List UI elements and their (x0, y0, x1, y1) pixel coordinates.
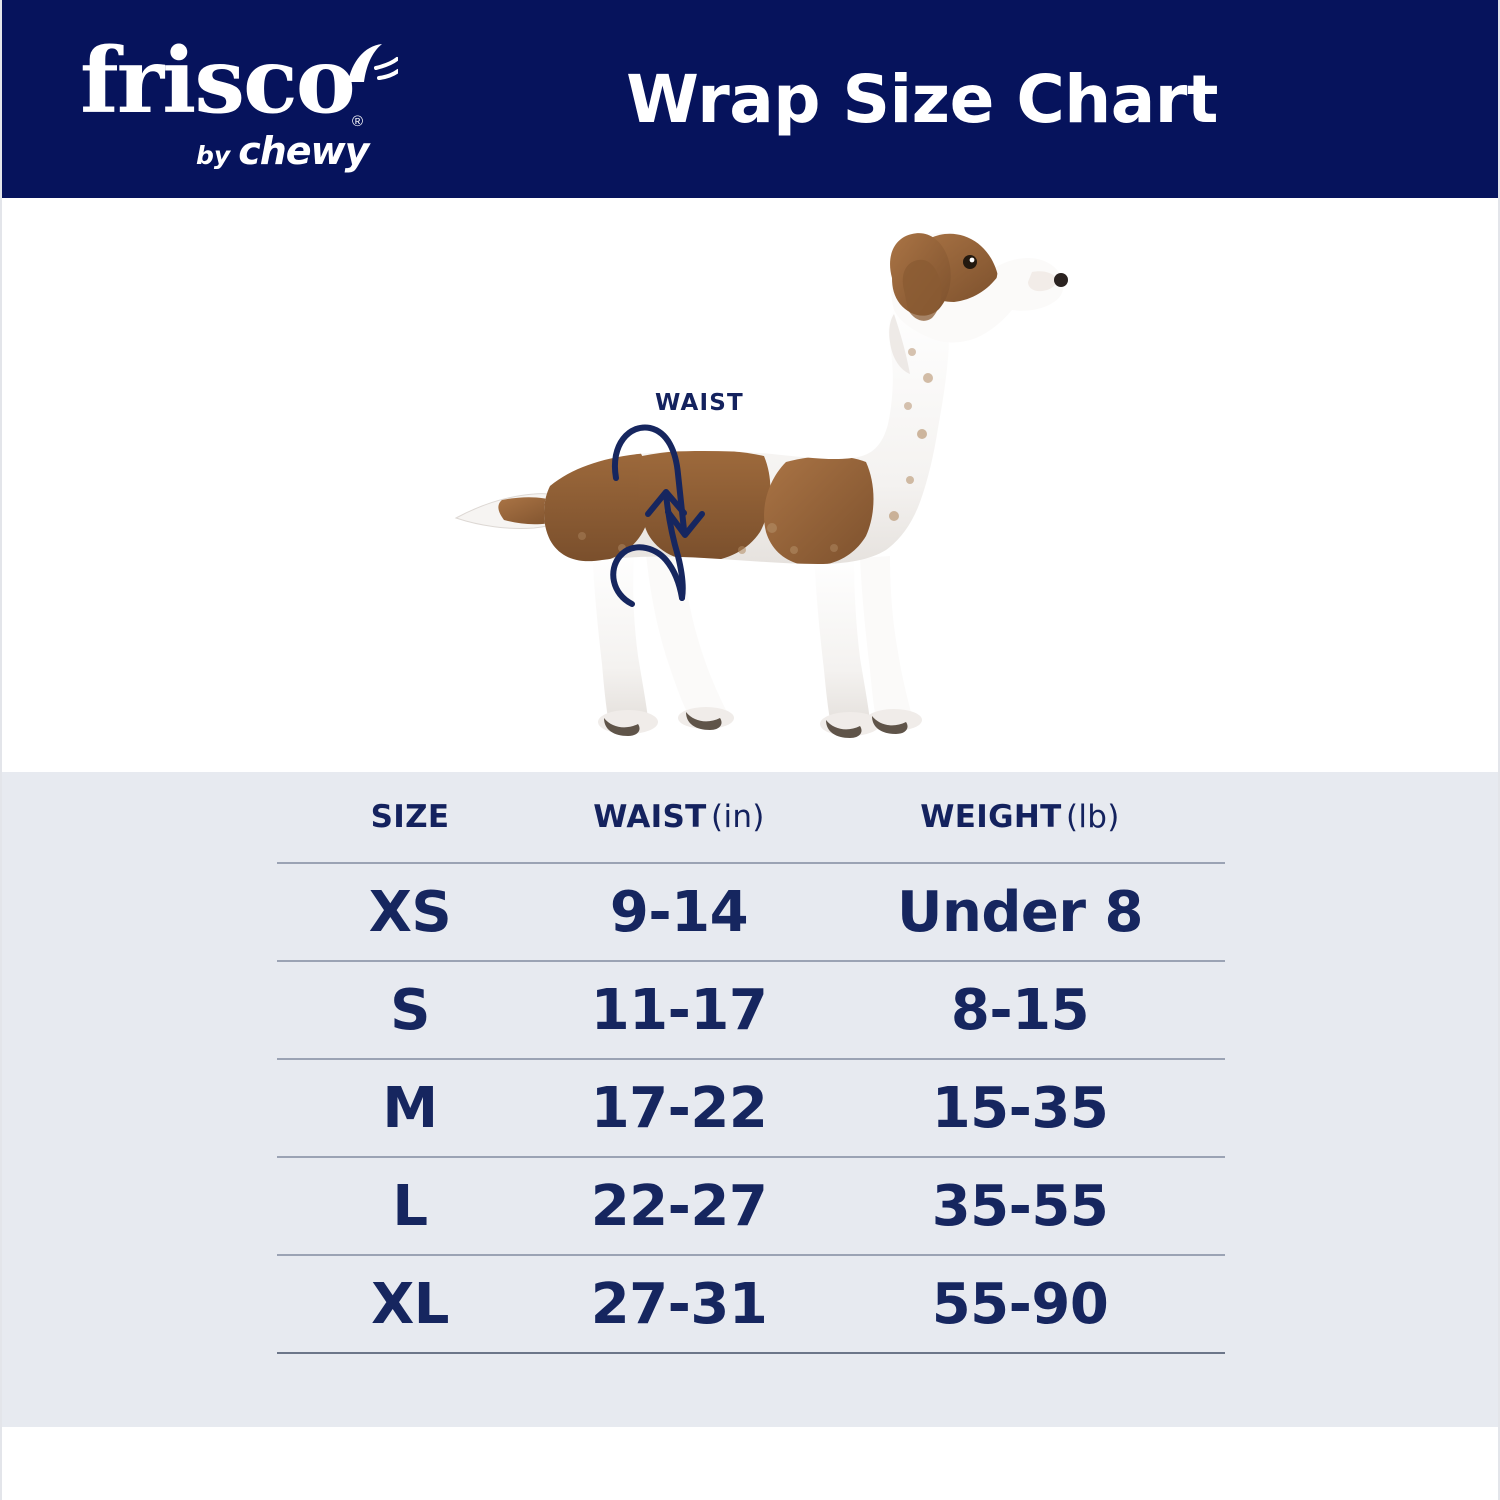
size-chart-page: frisco ® by chewy Wrap Size Chart (0, 0, 1500, 1500)
weight-value: 55-90 (932, 1272, 1109, 1337)
cell-weight: 15-35 (815, 1076, 1225, 1141)
table-row: S 11-17 8-15 (277, 962, 1225, 1060)
registered-trademark-icon: ® (352, 114, 363, 129)
cell-weight: 35-55 (815, 1174, 1225, 1239)
header-band: frisco ® by chewy Wrap Size Chart (2, 0, 1500, 198)
cell-weight: 8-15 (815, 978, 1225, 1043)
page-title: Wrap Size Chart (402, 0, 1500, 198)
size-table-section: SIZE WAIST (in) WEIGHT (lb) XS 9-14 (2, 772, 1500, 1427)
size-table: SIZE WAIST (in) WEIGHT (lb) XS 9-14 (277, 772, 1225, 1354)
size-value: XS (369, 880, 452, 945)
cell-size: S (277, 978, 543, 1043)
brand-by-label: by (196, 143, 230, 168)
column-header-size-label: SIZE (371, 799, 450, 835)
cell-size: M (277, 1076, 543, 1141)
cell-waist: 9-14 (543, 880, 815, 945)
size-value: L (392, 1174, 427, 1239)
dog-illustration: WAIST (442, 218, 1082, 748)
column-header-waist-label: WAIST (593, 799, 706, 835)
weight-value: 8-15 (951, 978, 1089, 1043)
cell-size: XL (277, 1272, 543, 1337)
table-row: M 17-22 15-35 (277, 1060, 1225, 1158)
weight-value: 15-35 (932, 1076, 1109, 1141)
column-header-weight-unit: (lb) (1066, 799, 1120, 835)
column-header-size: SIZE (277, 799, 543, 835)
weight-value: Under 8 (897, 880, 1143, 945)
footer-whitespace (2, 1427, 1500, 1500)
chewy-wordmark: chewy (238, 132, 368, 170)
cell-waist: 17-22 (543, 1076, 815, 1141)
cell-weight: Under 8 (815, 880, 1225, 945)
waist-value: 17-22 (591, 1076, 768, 1141)
size-value: XL (371, 1272, 449, 1337)
weight-value: 35-55 (932, 1174, 1109, 1239)
waist-value: 9-14 (610, 880, 748, 945)
cell-size: XS (277, 880, 543, 945)
column-header-waist-unit: (in) (711, 799, 765, 835)
cell-weight: 55-90 (815, 1272, 1225, 1337)
waist-measurement-arrow-icon (592, 408, 722, 608)
table-row: L 22-27 35-55 (277, 1158, 1225, 1256)
waist-value: 11-17 (591, 978, 768, 1043)
table-row: XL 27-31 55-90 (277, 1256, 1225, 1354)
frisco-logo: frisco ® by chewy (80, 36, 380, 164)
table-header-row: SIZE WAIST (in) WEIGHT (lb) (277, 772, 1225, 864)
column-header-waist: WAIST (in) (543, 799, 815, 835)
illustration-area: WAIST (2, 198, 1500, 772)
brand-subline: by chewy (196, 132, 368, 170)
cell-waist: 27-31 (543, 1272, 815, 1337)
size-value: S (390, 978, 430, 1043)
waist-value: 27-31 (591, 1272, 768, 1337)
cell-waist: 11-17 (543, 978, 815, 1043)
table-row: XS 9-14 Under 8 (277, 864, 1225, 962)
column-header-weight: WEIGHT (lb) (815, 799, 1225, 835)
waist-value: 22-27 (591, 1174, 768, 1239)
column-header-weight-label: WEIGHT (920, 799, 1061, 835)
brand-wordmark: frisco (80, 36, 354, 126)
dog-side-profile-image (442, 218, 1082, 748)
whisker-flourish-icon (342, 42, 398, 100)
cell-size: L (277, 1174, 543, 1239)
size-value: M (382, 1076, 437, 1141)
cell-waist: 22-27 (543, 1174, 815, 1239)
